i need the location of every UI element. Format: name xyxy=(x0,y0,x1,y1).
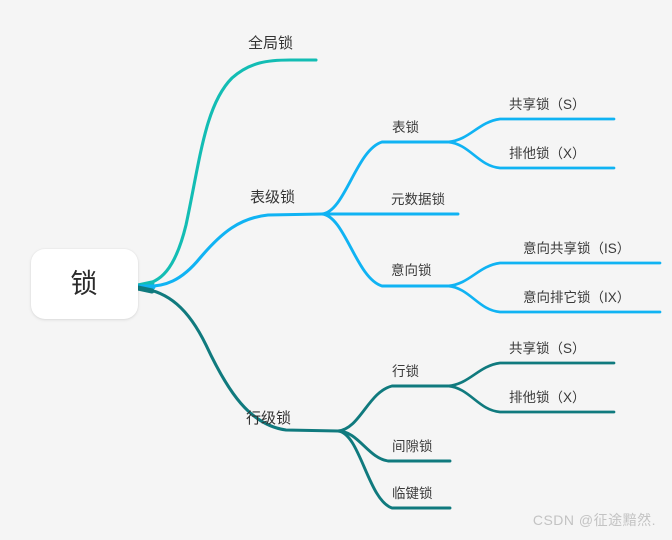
node-intention-lock-label: 意向锁 xyxy=(391,263,432,278)
edge-root-to-table-level-lock xyxy=(141,214,322,286)
node-table-lock-label: 表锁 xyxy=(392,120,419,135)
node-intention-exclusive-lock[interactable]: 意向排它锁（IX） xyxy=(523,290,630,306)
node-intention-exclusive-lock-label: 意向排它锁（IX） xyxy=(523,290,630,305)
node-metadata-lock-label: 元数据锁 xyxy=(391,192,445,207)
node-table-level-lock[interactable]: 表级锁 xyxy=(250,189,295,206)
watermark: CSDN @征途黯然. xyxy=(533,510,656,530)
node-row-level-lock-label: 行级锁 xyxy=(246,410,291,427)
node-gap-lock-label: 间隙锁 xyxy=(392,439,433,454)
edge-root-to-row-level-lock xyxy=(141,288,338,431)
node-row-shared-lock-label: 共享锁（S） xyxy=(509,341,586,356)
root-node-label: 锁 xyxy=(71,271,99,298)
node-table-exclusive-lock-label: 排他锁（X） xyxy=(509,146,586,161)
node-table-shared-lock[interactable]: 共享锁（S） xyxy=(509,97,586,113)
mindmap-canvas: 锁 全局锁 表级锁 行级锁 表锁 元数据锁 意向锁 共享锁（S） 排他锁（X） … xyxy=(0,0,672,540)
node-metadata-lock[interactable]: 元数据锁 xyxy=(391,192,445,208)
node-gap-lock[interactable]: 间隙锁 xyxy=(392,439,433,455)
edge-intention-lock-to-shared xyxy=(448,263,660,286)
node-row-shared-lock[interactable]: 共享锁（S） xyxy=(509,341,586,357)
watermark-text: CSDN @征途黯然. xyxy=(533,512,656,528)
edge-row-lock-to-shared xyxy=(448,363,614,386)
node-intention-shared-lock-label: 意向共享锁（IS） xyxy=(523,241,630,256)
node-row-exclusive-lock[interactable]: 排他锁（X） xyxy=(509,390,586,406)
edge-table-lock-to-shared xyxy=(448,119,614,142)
root-node[interactable]: 锁 xyxy=(31,249,138,319)
node-table-lock[interactable]: 表锁 xyxy=(392,120,419,136)
node-global-lock[interactable]: 全局锁 xyxy=(248,35,293,52)
node-row-exclusive-lock-label: 排他锁（X） xyxy=(509,390,586,405)
node-next-key-lock[interactable]: 临键锁 xyxy=(392,486,433,502)
node-intention-shared-lock[interactable]: 意向共享锁（IS） xyxy=(523,241,630,257)
node-intention-lock[interactable]: 意向锁 xyxy=(391,263,432,279)
edge-root-to-global-lock xyxy=(141,60,316,285)
node-row-lock[interactable]: 行锁 xyxy=(392,364,419,380)
node-table-level-lock-label: 表级锁 xyxy=(250,189,295,206)
node-row-lock-label: 行锁 xyxy=(392,364,419,379)
node-row-level-lock[interactable]: 行级锁 xyxy=(246,410,291,427)
edge-row-level-to-row-lock xyxy=(338,386,448,431)
node-next-key-lock-label: 临键锁 xyxy=(392,486,433,501)
node-global-lock-label: 全局锁 xyxy=(248,35,293,52)
edge-root-stub-row xyxy=(138,288,152,291)
node-table-exclusive-lock[interactable]: 排他锁（X） xyxy=(509,146,586,162)
node-table-shared-lock-label: 共享锁（S） xyxy=(509,97,586,112)
